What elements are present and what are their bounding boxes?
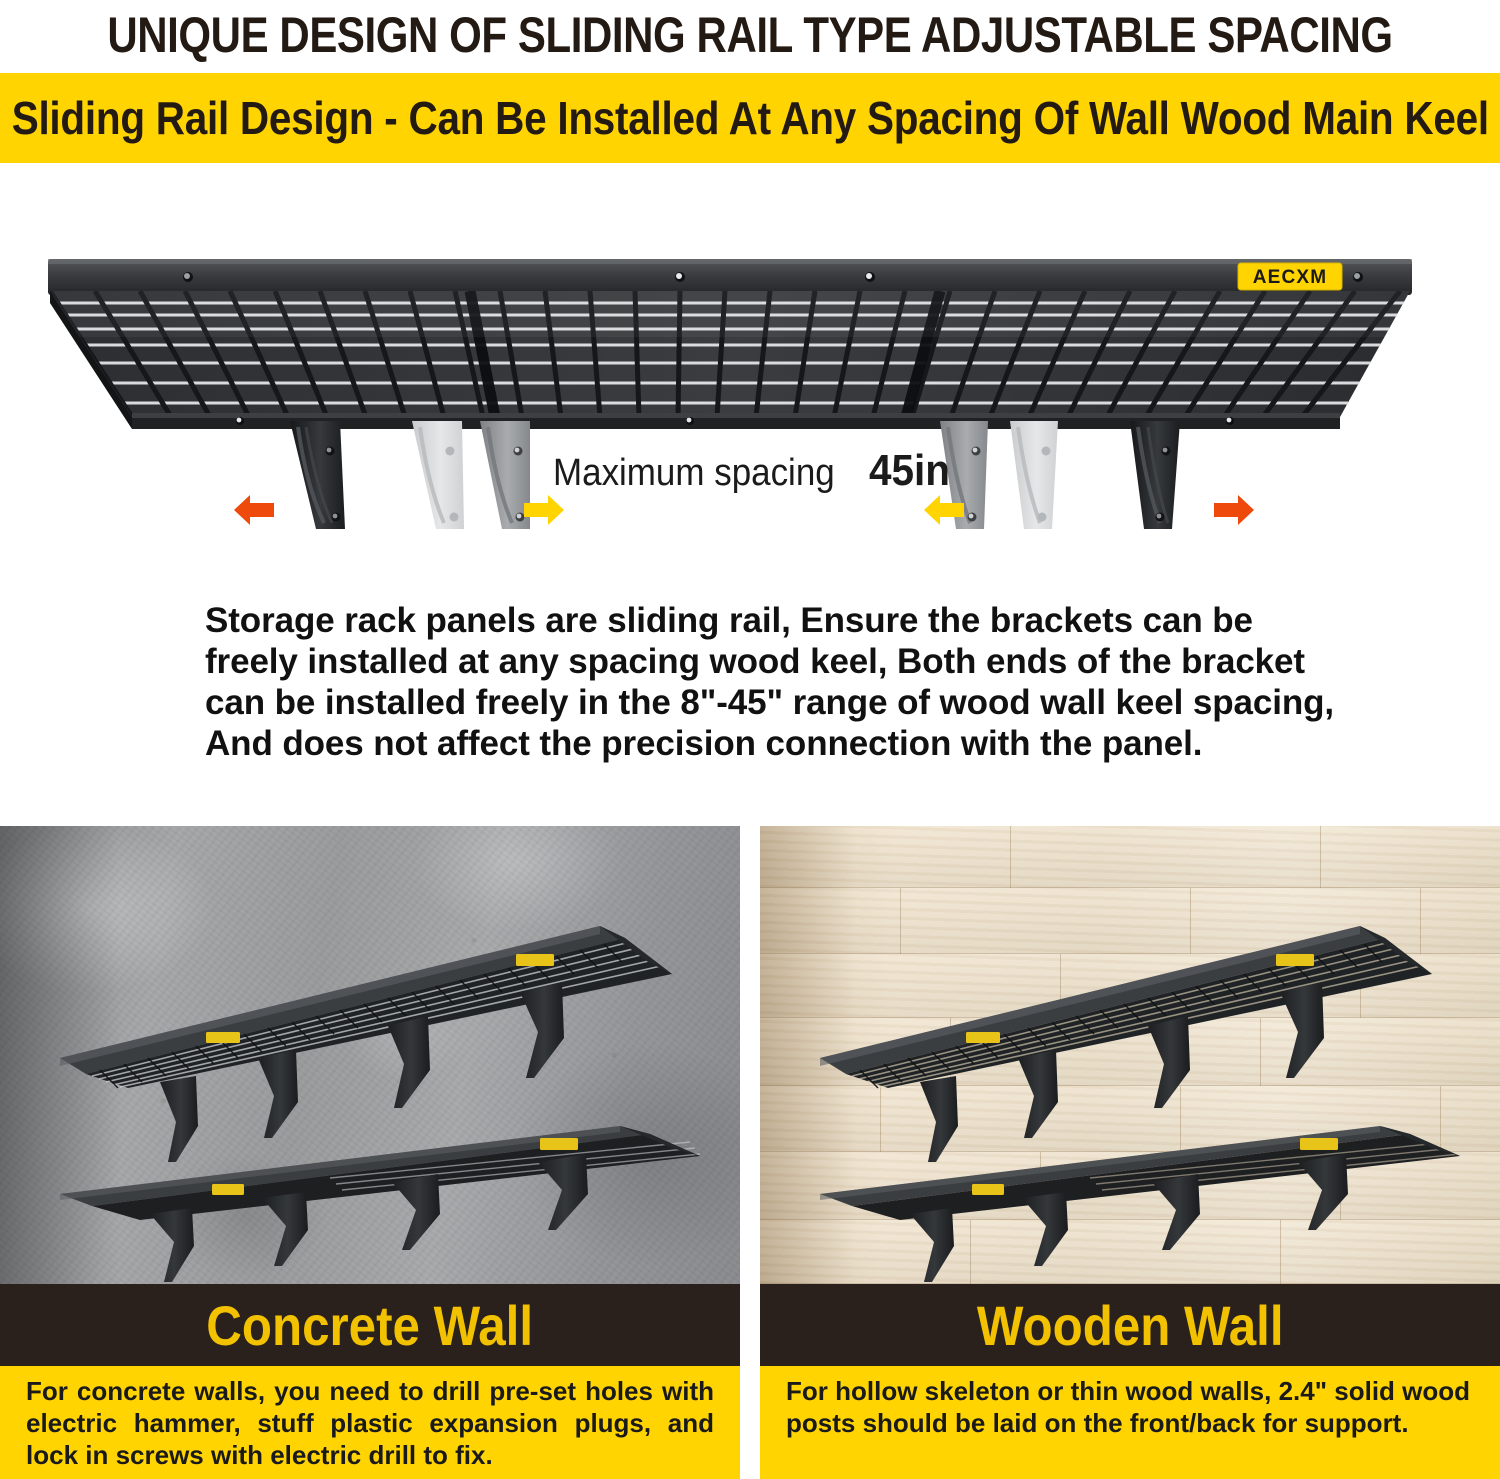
wall-type-cards: Concrete Wall For concrete walls, you ne… <box>0 826 1500 1479</box>
left-group-right-arrow <box>522 490 566 530</box>
concrete-wall-photo <box>0 826 740 1284</box>
infographic-page: UNIQUE DESIGN OF SLIDING RAIL TYPE ADJUS… <box>0 0 1500 1479</box>
max-spacing-annotation: Maximum spacing 45in <box>590 446 920 498</box>
svg-text:AECXM: AECXM <box>1253 267 1328 288</box>
shelf-upper <box>60 926 672 1162</box>
max-spacing-lead: Maximum spacing <box>553 452 835 495</box>
wooden-wall-title-text: Wooden Wall <box>977 1293 1284 1358</box>
bracket-left-dark <box>290 421 345 529</box>
concrete-shelves-svg <box>0 826 740 1284</box>
right-group-right-arrow <box>1212 490 1256 530</box>
wooden-wall-body: For hollow skeleton or thin wood walls, … <box>760 1366 1500 1479</box>
rack-top-rail <box>48 259 1412 295</box>
wooden-wall-body-text: For hollow skeleton or thin wood walls, … <box>786 1375 1474 1439</box>
bracket-right-light <box>1010 421 1058 529</box>
wooden-wall-photo <box>760 826 1500 1284</box>
concrete-wall-body: For concrete walls, you need to drill pr… <box>0 1366 740 1479</box>
description-line-1: Storage rack panels are sliding rail, En… <box>205 600 1325 641</box>
concrete-wall-title: Concrete Wall <box>0 1284 740 1366</box>
description-line-2: freely installed at any spacing wood kee… <box>205 641 1325 682</box>
description-line-4: And does not affect the precision connec… <box>205 723 1325 764</box>
description-paragraph: Storage rack panels are sliding rail, En… <box>205 600 1325 764</box>
page-title: UNIQUE DESIGN OF SLIDING RAIL TYPE ADJUS… <box>120 2 1380 68</box>
wooden-wall-title: Wooden Wall <box>760 1284 1500 1366</box>
left-group-left-arrow <box>232 490 276 530</box>
shelf-lower <box>60 1126 700 1282</box>
concrete-wall-body-text: For concrete walls, you need to drill pr… <box>26 1375 714 1471</box>
rack-deck <box>50 291 1410 429</box>
description-line-3: can be installed freely in the 8"-45" ra… <box>205 682 1325 723</box>
bracket-left-light <box>412 421 464 529</box>
max-spacing-value: 45in <box>869 446 950 496</box>
shelf-upper-wood <box>820 926 1432 1162</box>
bracket-right-dark <box>1130 421 1180 529</box>
card-wooden-wall: Wooden Wall For hollow skeleton or thin … <box>760 826 1500 1479</box>
subtitle-text: Sliding Rail Design - Can Be Installed A… <box>11 91 1488 145</box>
shelf-lower-wood <box>820 1126 1460 1282</box>
subtitle-banner: Sliding Rail Design - Can Be Installed A… <box>0 73 1500 163</box>
right-group-left-arrow <box>922 490 966 530</box>
wooden-shelves-svg <box>760 826 1500 1284</box>
card-concrete-wall: Concrete Wall For concrete walls, you ne… <box>0 826 740 1479</box>
rack-illustration: AECXM <box>0 190 1500 580</box>
brand-label-aecxm: AECXM <box>1238 263 1342 290</box>
concrete-wall-title-text: Concrete Wall <box>207 1293 534 1358</box>
